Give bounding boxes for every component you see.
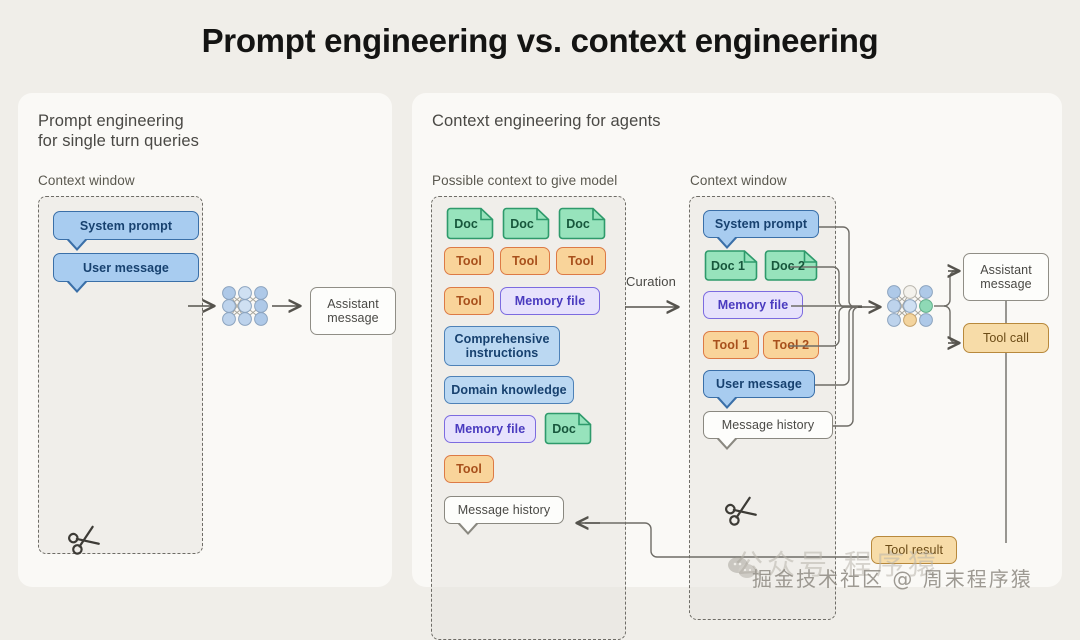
context-engineering-panel: Context engineering for agents Possible … [412, 93, 1062, 587]
possible-memory-file-2[interactable]: Memory file [444, 415, 536, 443]
possible-tool-3[interactable]: Tool [556, 247, 606, 275]
curated-message-history[interactable]: Message history [703, 411, 833, 439]
possible-doc-3-label: Doc [556, 207, 606, 240]
left-panel-title-line1: Prompt engineering [38, 112, 184, 130]
possible-tool-4[interactable]: Tool [444, 287, 494, 315]
possible-memory-file-1[interactable]: Memory file [500, 287, 600, 315]
possible-doc-3[interactable]: Doc [556, 207, 606, 240]
possible-doc-1[interactable]: Doc [444, 207, 494, 240]
right-output-assistant-message[interactable]: Assistant message [963, 253, 1049, 301]
right-panel-title: Context engineering for agents [432, 111, 661, 131]
right-output-line2: message [980, 277, 1031, 291]
curated-tool-2[interactable]: Tool 2 [763, 331, 819, 359]
right-context-window-label: Context window [690, 173, 787, 188]
curated-memory-file[interactable]: Memory file [703, 291, 803, 319]
left-output-line2: message [327, 311, 378, 325]
possible-message-history[interactable]: Message history [444, 496, 564, 524]
possible-comprehensive-instructions[interactable]: Comprehensive instructions [444, 326, 560, 366]
left-context-window-label: Context window [38, 173, 135, 188]
possible-doc-2[interactable]: Doc [500, 207, 550, 240]
curated-user-message[interactable]: User message [703, 370, 815, 398]
left-panel-title-line2: for single turn queries [38, 132, 199, 150]
curated-system-prompt[interactable]: System prompt [703, 210, 819, 238]
possible-tool-2[interactable]: Tool [500, 247, 550, 275]
possible-context-label: Possible context to give model [432, 173, 617, 188]
possible-tool-5[interactable]: Tool [444, 455, 494, 483]
curated-doc-1[interactable]: Doc 1 [703, 250, 759, 281]
left-node-system-prompt[interactable]: System prompt [53, 211, 199, 240]
possible-doc-1-label: Doc [444, 207, 494, 240]
curated-doc-2[interactable]: Doc 2 [763, 250, 819, 281]
left-output-assistant-message[interactable]: Assistant message [310, 287, 396, 335]
curated-tool-1[interactable]: Tool 1 [703, 331, 759, 359]
prompt-engineering-panel: Prompt engineering for single turn queri… [18, 93, 392, 587]
right-output-line1: Assistant [980, 263, 1032, 277]
possible-tool-1[interactable]: Tool [444, 247, 494, 275]
left-node-user-message[interactable]: User message [53, 253, 199, 282]
tool-result-node[interactable]: Tool result [871, 536, 957, 564]
left-context-window [38, 196, 203, 554]
possible-doc-4-label: Doc [542, 412, 592, 445]
page-title: Prompt engineering vs. context engineeri… [0, 22, 1080, 60]
possible-domain-knowledge[interactable]: Domain knowledge [444, 376, 574, 404]
possible-doc-4[interactable]: Doc [542, 412, 592, 445]
left-panel-title: Prompt engineering for single turn queri… [38, 111, 199, 151]
possible-doc-2-label: Doc [500, 207, 550, 240]
curated-doc-1-label: Doc 1 [703, 250, 759, 281]
curated-doc-2-label: Doc 2 [763, 250, 819, 281]
curation-label: Curation [626, 274, 676, 289]
right-output-tool-call[interactable]: Tool call [963, 323, 1049, 353]
left-output-line1: Assistant [327, 297, 379, 311]
